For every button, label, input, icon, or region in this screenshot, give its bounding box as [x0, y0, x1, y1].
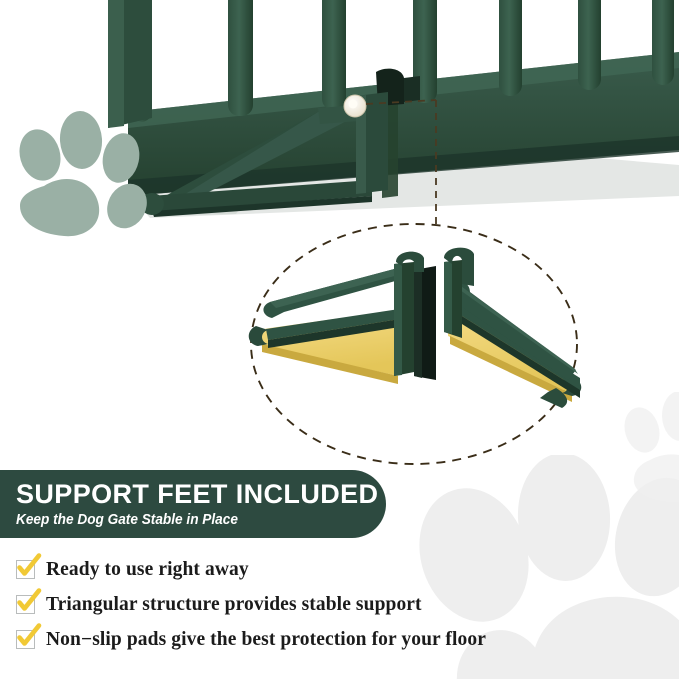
feature-label: Non−slip pads give the best protection f… — [46, 629, 486, 651]
feature-label: Triangular structure provides stable sup… — [46, 594, 422, 616]
banner-title: SUPPORT FEET INCLUDED — [16, 481, 386, 508]
checkbox-checked-icon — [16, 560, 35, 579]
knob-icon — [344, 95, 366, 117]
checkbox-checked-icon — [16, 630, 35, 649]
paw-print-green — [8, 110, 148, 240]
list-item: Triangular structure provides stable sup… — [16, 588, 656, 621]
feature-label: Ready to use right away — [46, 559, 249, 581]
list-item: Ready to use right away — [16, 553, 656, 586]
paw-print-gray-small — [616, 392, 679, 502]
checkbox-checked-icon — [16, 595, 35, 614]
feature-list: Ready to use right away Triangular struc… — [16, 553, 656, 658]
product-infographic: SUPPORT FEET INCLUDED Keep the Dog Gate … — [0, 0, 679, 679]
feature-banner: SUPPORT FEET INCLUDED Keep the Dog Gate … — [0, 470, 386, 538]
banner-subtitle: Keep the Dog Gate Stable in Place — [16, 513, 364, 528]
list-item: Non−slip pads give the best protection f… — [16, 623, 656, 656]
gate-corner-post — [108, 0, 152, 128]
